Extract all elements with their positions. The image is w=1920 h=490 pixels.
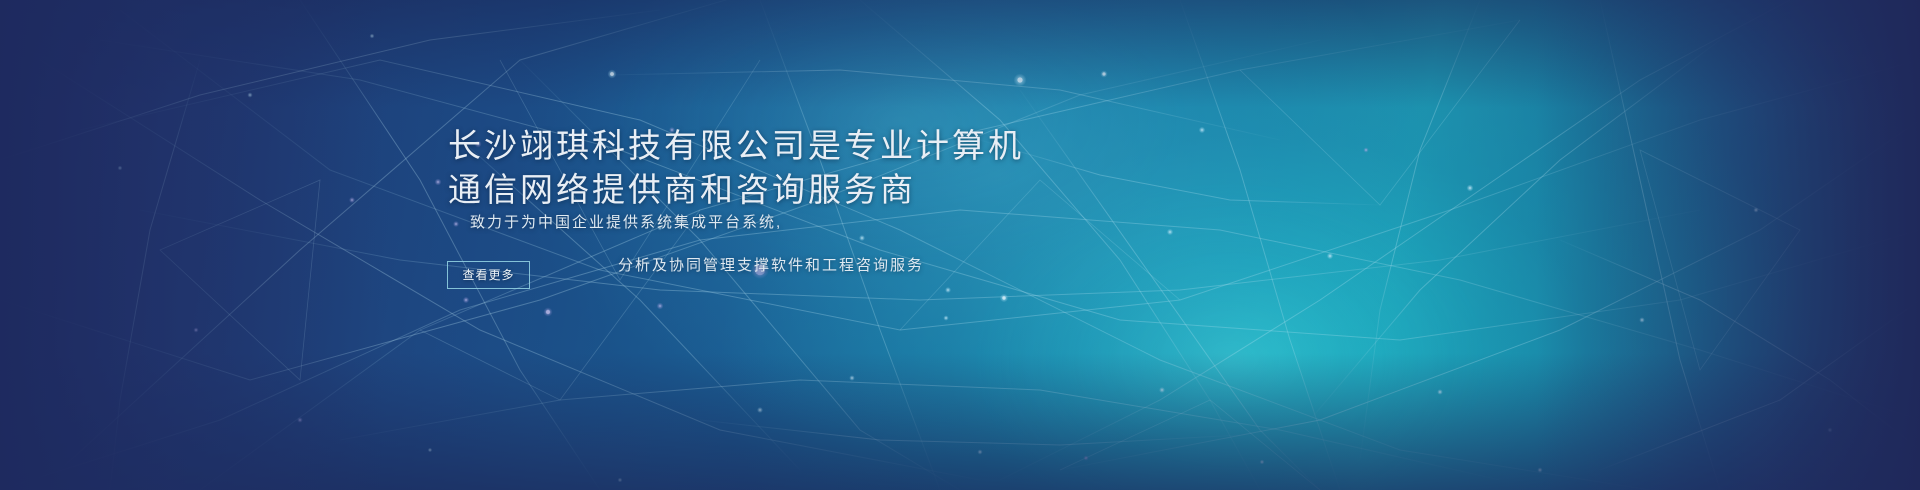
- view-more-button[interactable]: 查看更多: [447, 261, 530, 289]
- hero-subtitle-line-2: 分析及协同管理支撑软件和工程咨询服务: [618, 255, 924, 277]
- hero-content: 长沙翊琪科技有限公司是专业计算机 通信网络提供商和咨询服务商 致力于为中国企业提…: [0, 0, 1920, 490]
- hero-headline: 长沙翊琪科技有限公司是专业计算机 通信网络提供商和咨询服务商: [448, 124, 1068, 212]
- hero-headline-line-2: 通信网络提供商和咨询服务商: [448, 168, 1068, 212]
- hero-subtitle-line-1: 致力于为中国企业提供系统集成平台系统,: [470, 212, 782, 234]
- hero-banner: 长沙翊琪科技有限公司是专业计算机 通信网络提供商和咨询服务商 致力于为中国企业提…: [0, 0, 1920, 490]
- hero-headline-line-1: 长沙翊琪科技有限公司是专业计算机: [448, 124, 1068, 168]
